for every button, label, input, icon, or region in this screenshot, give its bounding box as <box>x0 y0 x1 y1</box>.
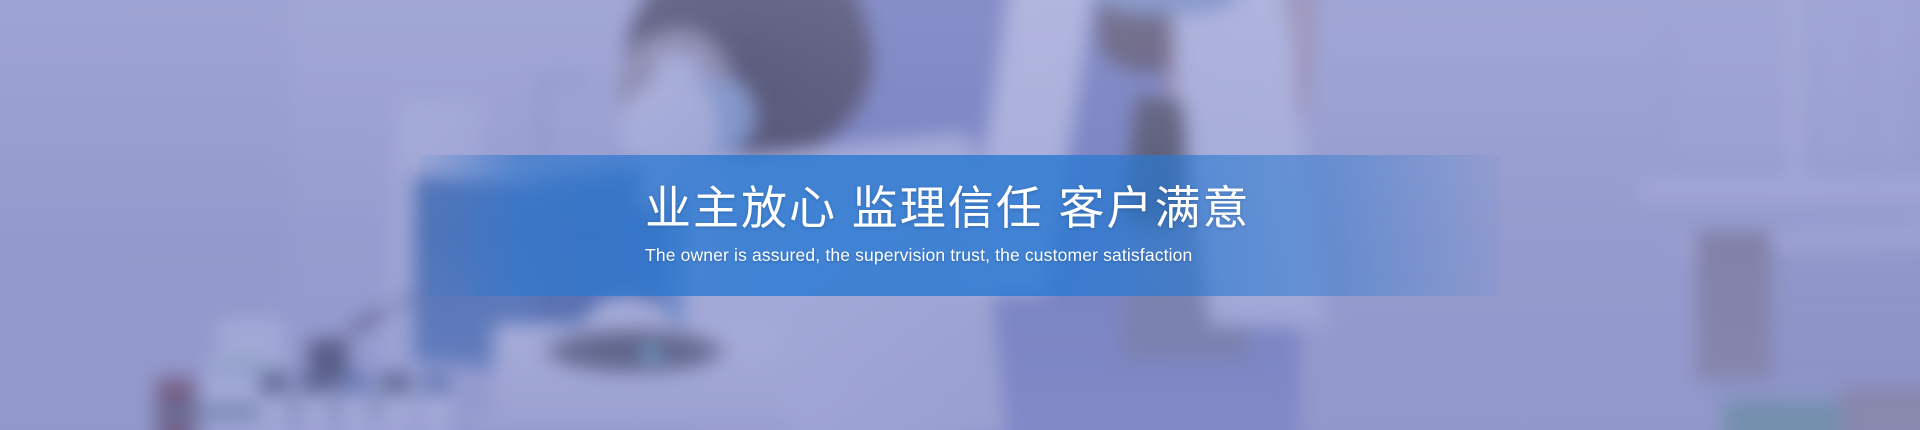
headline-content: 业主放心 监理信任 客户满意 The owner is assured, the… <box>420 155 1500 296</box>
headline-text: 业主放心 监理信任 客户满意 <box>645 185 1251 233</box>
hero-banner: 业主放心 监理信任 客户满意 The owner is assured, the… <box>0 0 1920 430</box>
subheadline-text: The owner is assured, the supervision tr… <box>645 245 1192 266</box>
